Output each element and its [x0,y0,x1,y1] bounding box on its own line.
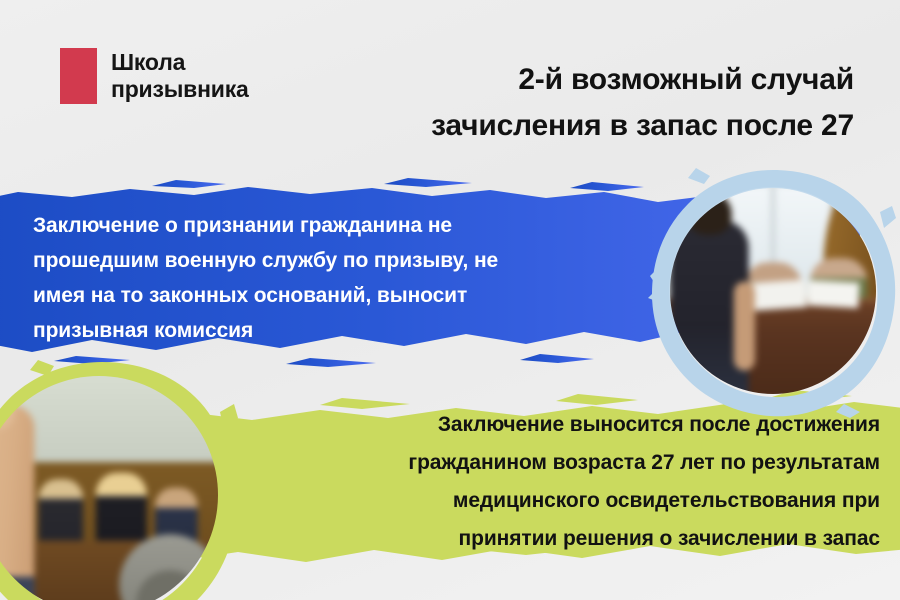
blue-line-2: прошедшим военную службу по призыву, не [33,243,593,278]
medical-exam-photo [0,360,242,600]
medical-exam-photo-image [0,376,218,600]
infographic-canvas: Школа призывника 2-й возможный случай за… [0,0,900,600]
page-title-line-1: 2-й возможный случай [294,57,854,103]
blue-banner-text: Заключение о признании гражданина не про… [33,208,593,348]
logo-line-2: призывника [111,76,249,103]
brand-logo[interactable]: Школа призывника [60,48,249,104]
page-title-line-2: зачисления в запас после 27 [294,103,854,149]
green-line-2: гражданином возраста 27 лет по результат… [320,444,880,482]
page-title: 2-й возможный случай зачисления в запас … [294,57,854,148]
logo-square-icon [60,48,97,104]
logo-wordmark: Школа призывника [111,49,249,102]
green-line-4: принятии решения о зачислении в запас [320,520,880,558]
logo-line-1: Школа [111,49,249,76]
blue-line-4: призывная комиссия [33,313,593,348]
commission-photo-image [670,188,876,394]
blue-line-3: имея на то законных оснований, выносит [33,278,593,313]
blue-line-1: Заключение о признании гражданина не [33,208,593,243]
commission-photo [648,168,898,418]
green-line-3: медицинского освидетельствования при [320,482,880,520]
green-band-text: Заключение выносится после достижения гр… [320,406,880,558]
